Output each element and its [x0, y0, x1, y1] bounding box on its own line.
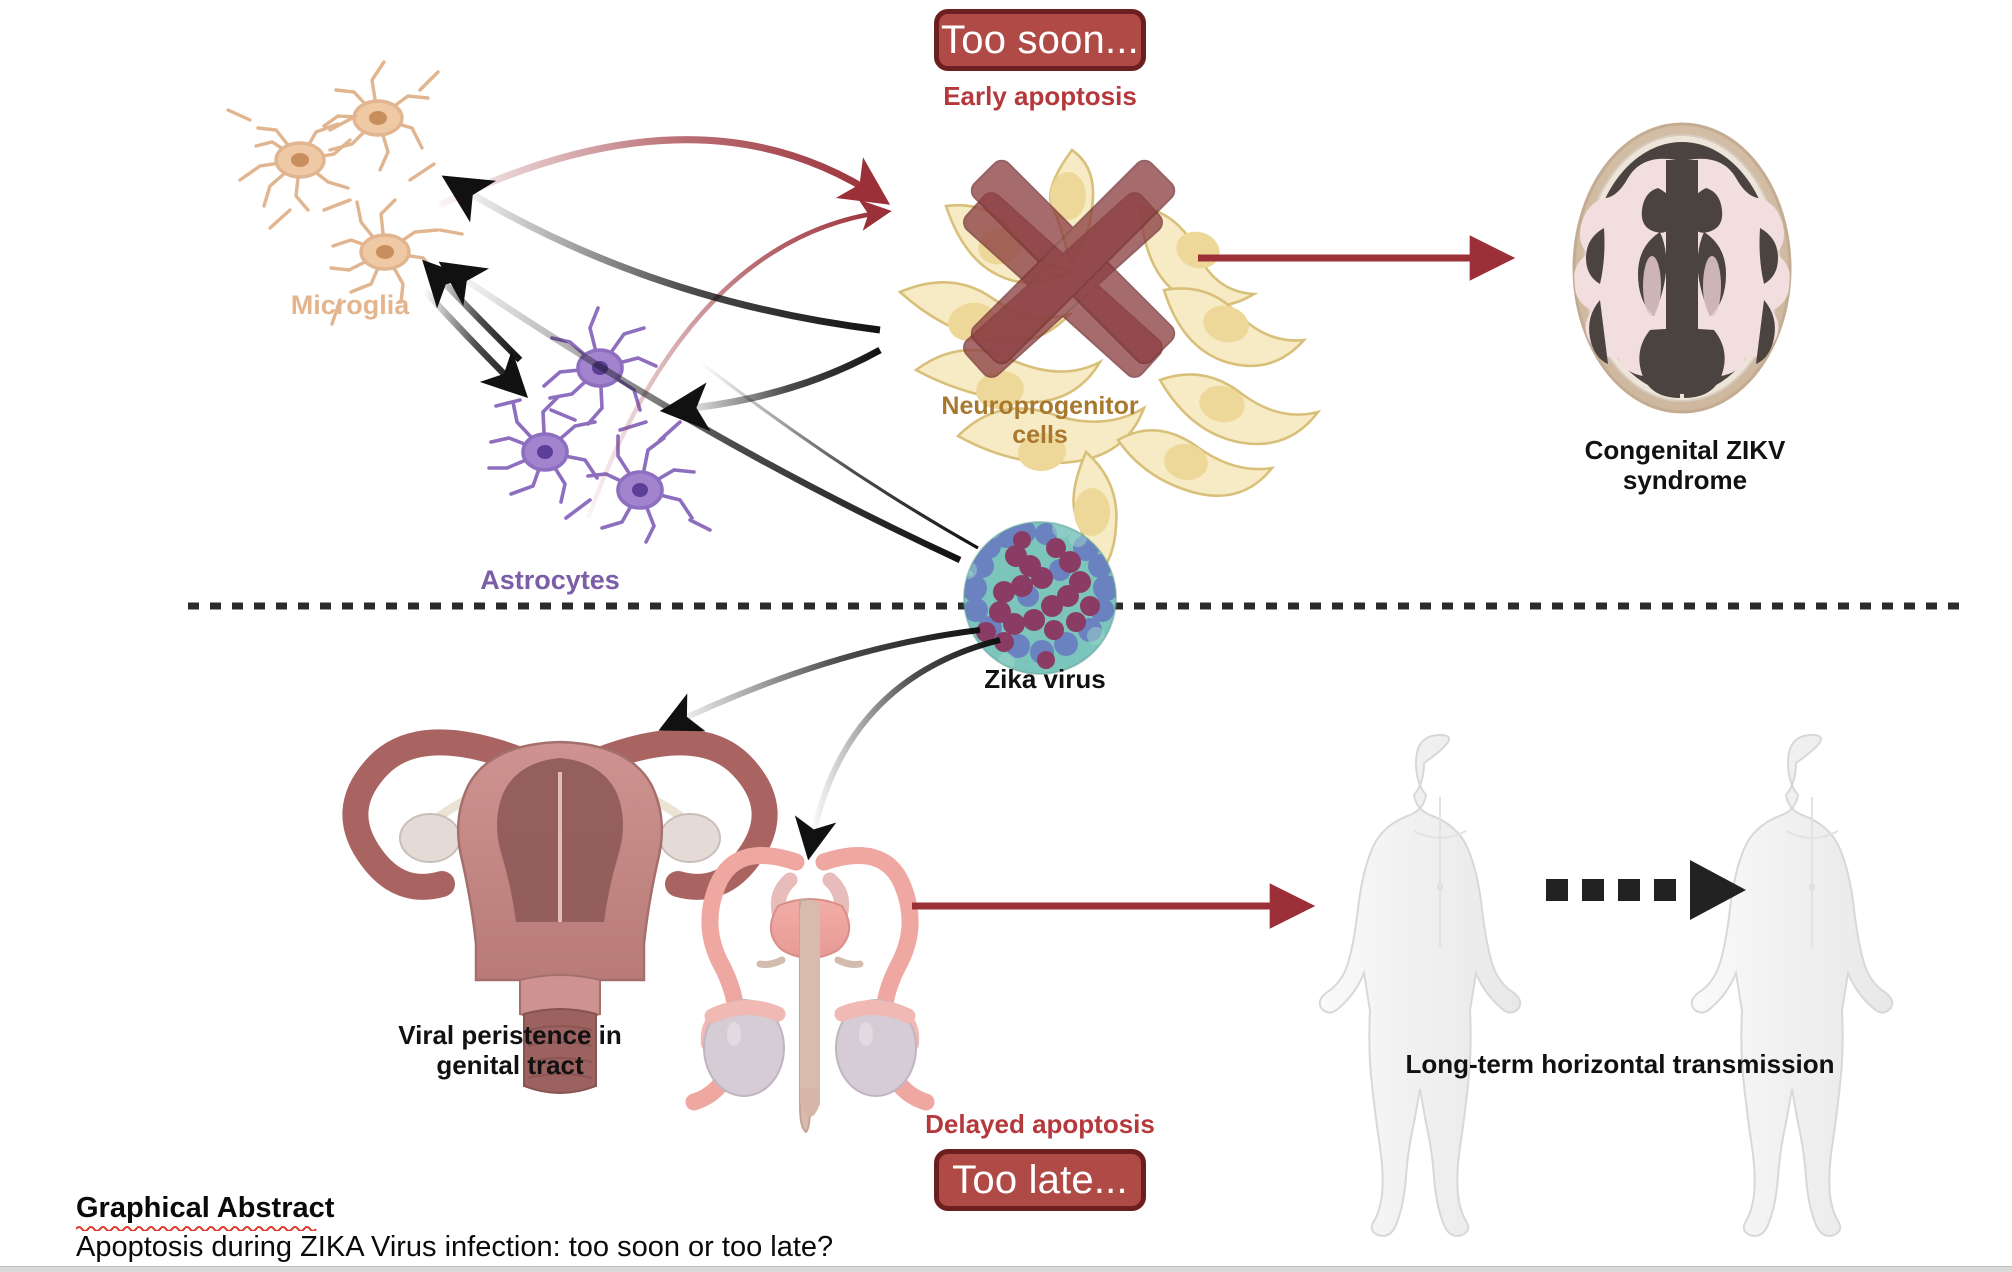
label-neuroprogenitor-cells: Neuroprogenitor cells	[880, 392, 1200, 449]
bottom-strip	[0, 1267, 2012, 1272]
dashed-arrow-icon	[1546, 860, 1746, 920]
arrow-virus-to-astrocytes	[700, 362, 978, 548]
label-microglia: Microglia	[200, 290, 500, 321]
neuroprogenitor-cells-crossed-icon	[900, 150, 1318, 574]
male-reproductive-tract-icon	[694, 856, 926, 1132]
arrow-npc-to-astrocytes	[672, 350, 880, 410]
caption-title: Graphical Abstract	[76, 1192, 334, 1224]
label-delayed-apoptosis: Delayed apoptosis	[880, 1110, 1200, 1140]
caption: Graphical Abstract Apoptosis during ZIKA…	[76, 1192, 1276, 1265]
label-viral-persistence: Viral peristence in genital tract	[320, 1021, 700, 1080]
label-zika-virus: Zika virus	[920, 665, 1170, 695]
label-early-apoptosis: Early apoptosis	[880, 82, 1200, 112]
arrow-microglia-to-npc	[440, 140, 880, 205]
brain-axial-section-icon	[1574, 124, 1790, 412]
figure-canvas	[0, 0, 2012, 1272]
microglia-cells-icon	[228, 62, 462, 324]
arrow-npc-to-microglia	[452, 182, 880, 330]
label-long-term-transmission: Long-term horizontal transmission	[1340, 1050, 1900, 1080]
label-congenital-zikv-syndrome: Congenital ZIKV syndrome	[1520, 436, 1850, 495]
human-body-silhouette-icon-2	[1692, 735, 1893, 1236]
caption-subtitle: Apoptosis during ZIKA Virus infection: t…	[76, 1230, 1276, 1264]
label-astrocytes: Astrocytes	[400, 565, 700, 596]
graphical-abstract-figure: Too soon... Too late... Early apoptosis …	[0, 0, 2012, 1272]
human-body-silhouette-icon	[1320, 735, 1893, 1236]
callout-too-soon: Too soon...	[934, 9, 1146, 71]
caption-title-text: Graphical Abstract	[76, 1192, 334, 1224]
